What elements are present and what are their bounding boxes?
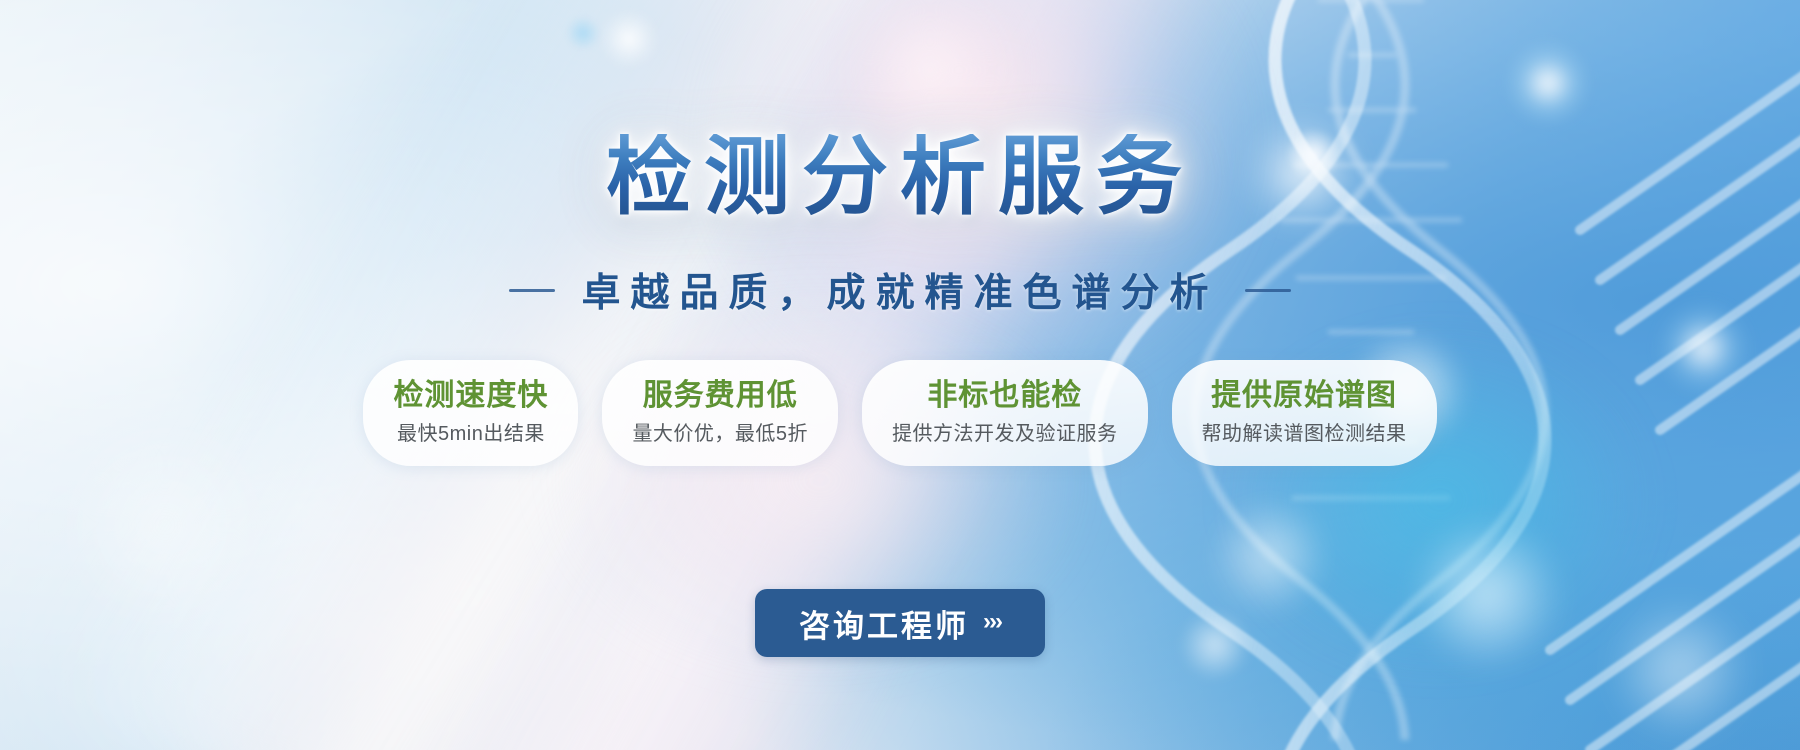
feature-pill-speed[interactable]: 检测速度快 最快5min出结果 — [363, 360, 578, 466]
feature-pill-title: 提供原始谱图 — [1202, 378, 1407, 415]
promo-banner: 检测分析服务 卓越品质，成就精准色谱分析 检测速度快 最快5min出结果 服务费… — [0, 0, 1800, 750]
consult-engineer-button[interactable]: 咨询工程师 ››› — [755, 589, 1045, 657]
feature-pill-subtitle: 量大价优，最低5折 — [632, 422, 808, 446]
feature-pill-nonstandard[interactable]: 非标也能检 提供方法开发及验证服务 — [862, 360, 1148, 466]
banner-title: 检测分析服务 — [0, 134, 1800, 220]
feature-pill-list: 检测速度快 最快5min出结果 服务费用低 量大价优，最低5折 非标也能检 提供… — [0, 360, 1800, 466]
subtitle-rule-left-icon — [509, 289, 555, 292]
chevron-right-triple-icon: ››› — [983, 608, 1001, 636]
cta-container: 咨询工程师 ››› — [0, 589, 1800, 657]
feature-pill-price[interactable]: 服务费用低 量大价优，最低5折 — [602, 360, 838, 466]
feature-pill-title: 服务费用低 — [632, 378, 808, 415]
banner-subtitle-row: 卓越品质，成就精准色谱分析 — [0, 262, 1800, 318]
banner-subtitle: 卓越品质，成就精准色谱分析 — [581, 262, 1218, 318]
subtitle-rule-right-icon — [1245, 289, 1291, 292]
cta-label: 咨询工程师 — [799, 601, 969, 646]
feature-pill-subtitle: 帮助解读谱图检测结果 — [1202, 422, 1407, 446]
feature-pill-title: 检测速度快 — [393, 378, 548, 415]
feature-pill-subtitle: 提供方法开发及验证服务 — [892, 422, 1118, 446]
banner-content: 检测分析服务 卓越品质，成就精准色谱分析 检测速度快 最快5min出结果 服务费… — [0, 0, 1800, 750]
feature-pill-subtitle: 最快5min出结果 — [393, 422, 548, 446]
feature-pill-raw-spectra[interactable]: 提供原始谱图 帮助解读谱图检测结果 — [1172, 360, 1437, 466]
feature-pill-title: 非标也能检 — [892, 378, 1118, 415]
